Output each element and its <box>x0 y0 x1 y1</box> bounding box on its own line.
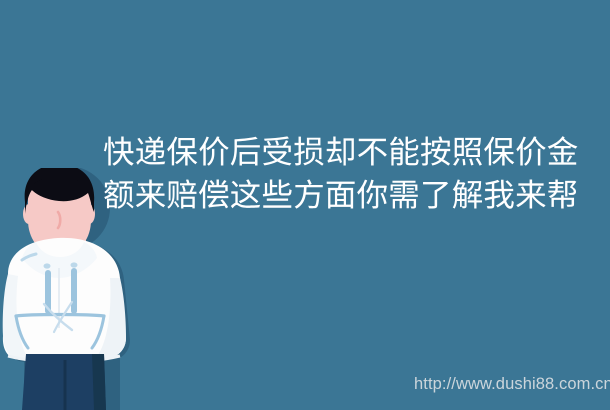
site-watermark-url: http://www.dushi88.com.cn <box>414 375 610 394</box>
drawstring-eyelet-right <box>71 262 78 267</box>
hoodie-pocket <box>16 315 104 317</box>
page-title: 快递保价后受损却不能按照保价金 额来赔偿这些方面你需了解我来帮 <box>103 131 583 217</box>
pants-shade-right <box>92 354 106 410</box>
drawstring-eyelet-left <box>44 263 51 268</box>
drawstring-right <box>71 268 77 314</box>
article-cover-image: 快递保价后受损却不能按照保价金 额来赔偿这些方面你需了解我来帮 http://w… <box>0 0 610 410</box>
